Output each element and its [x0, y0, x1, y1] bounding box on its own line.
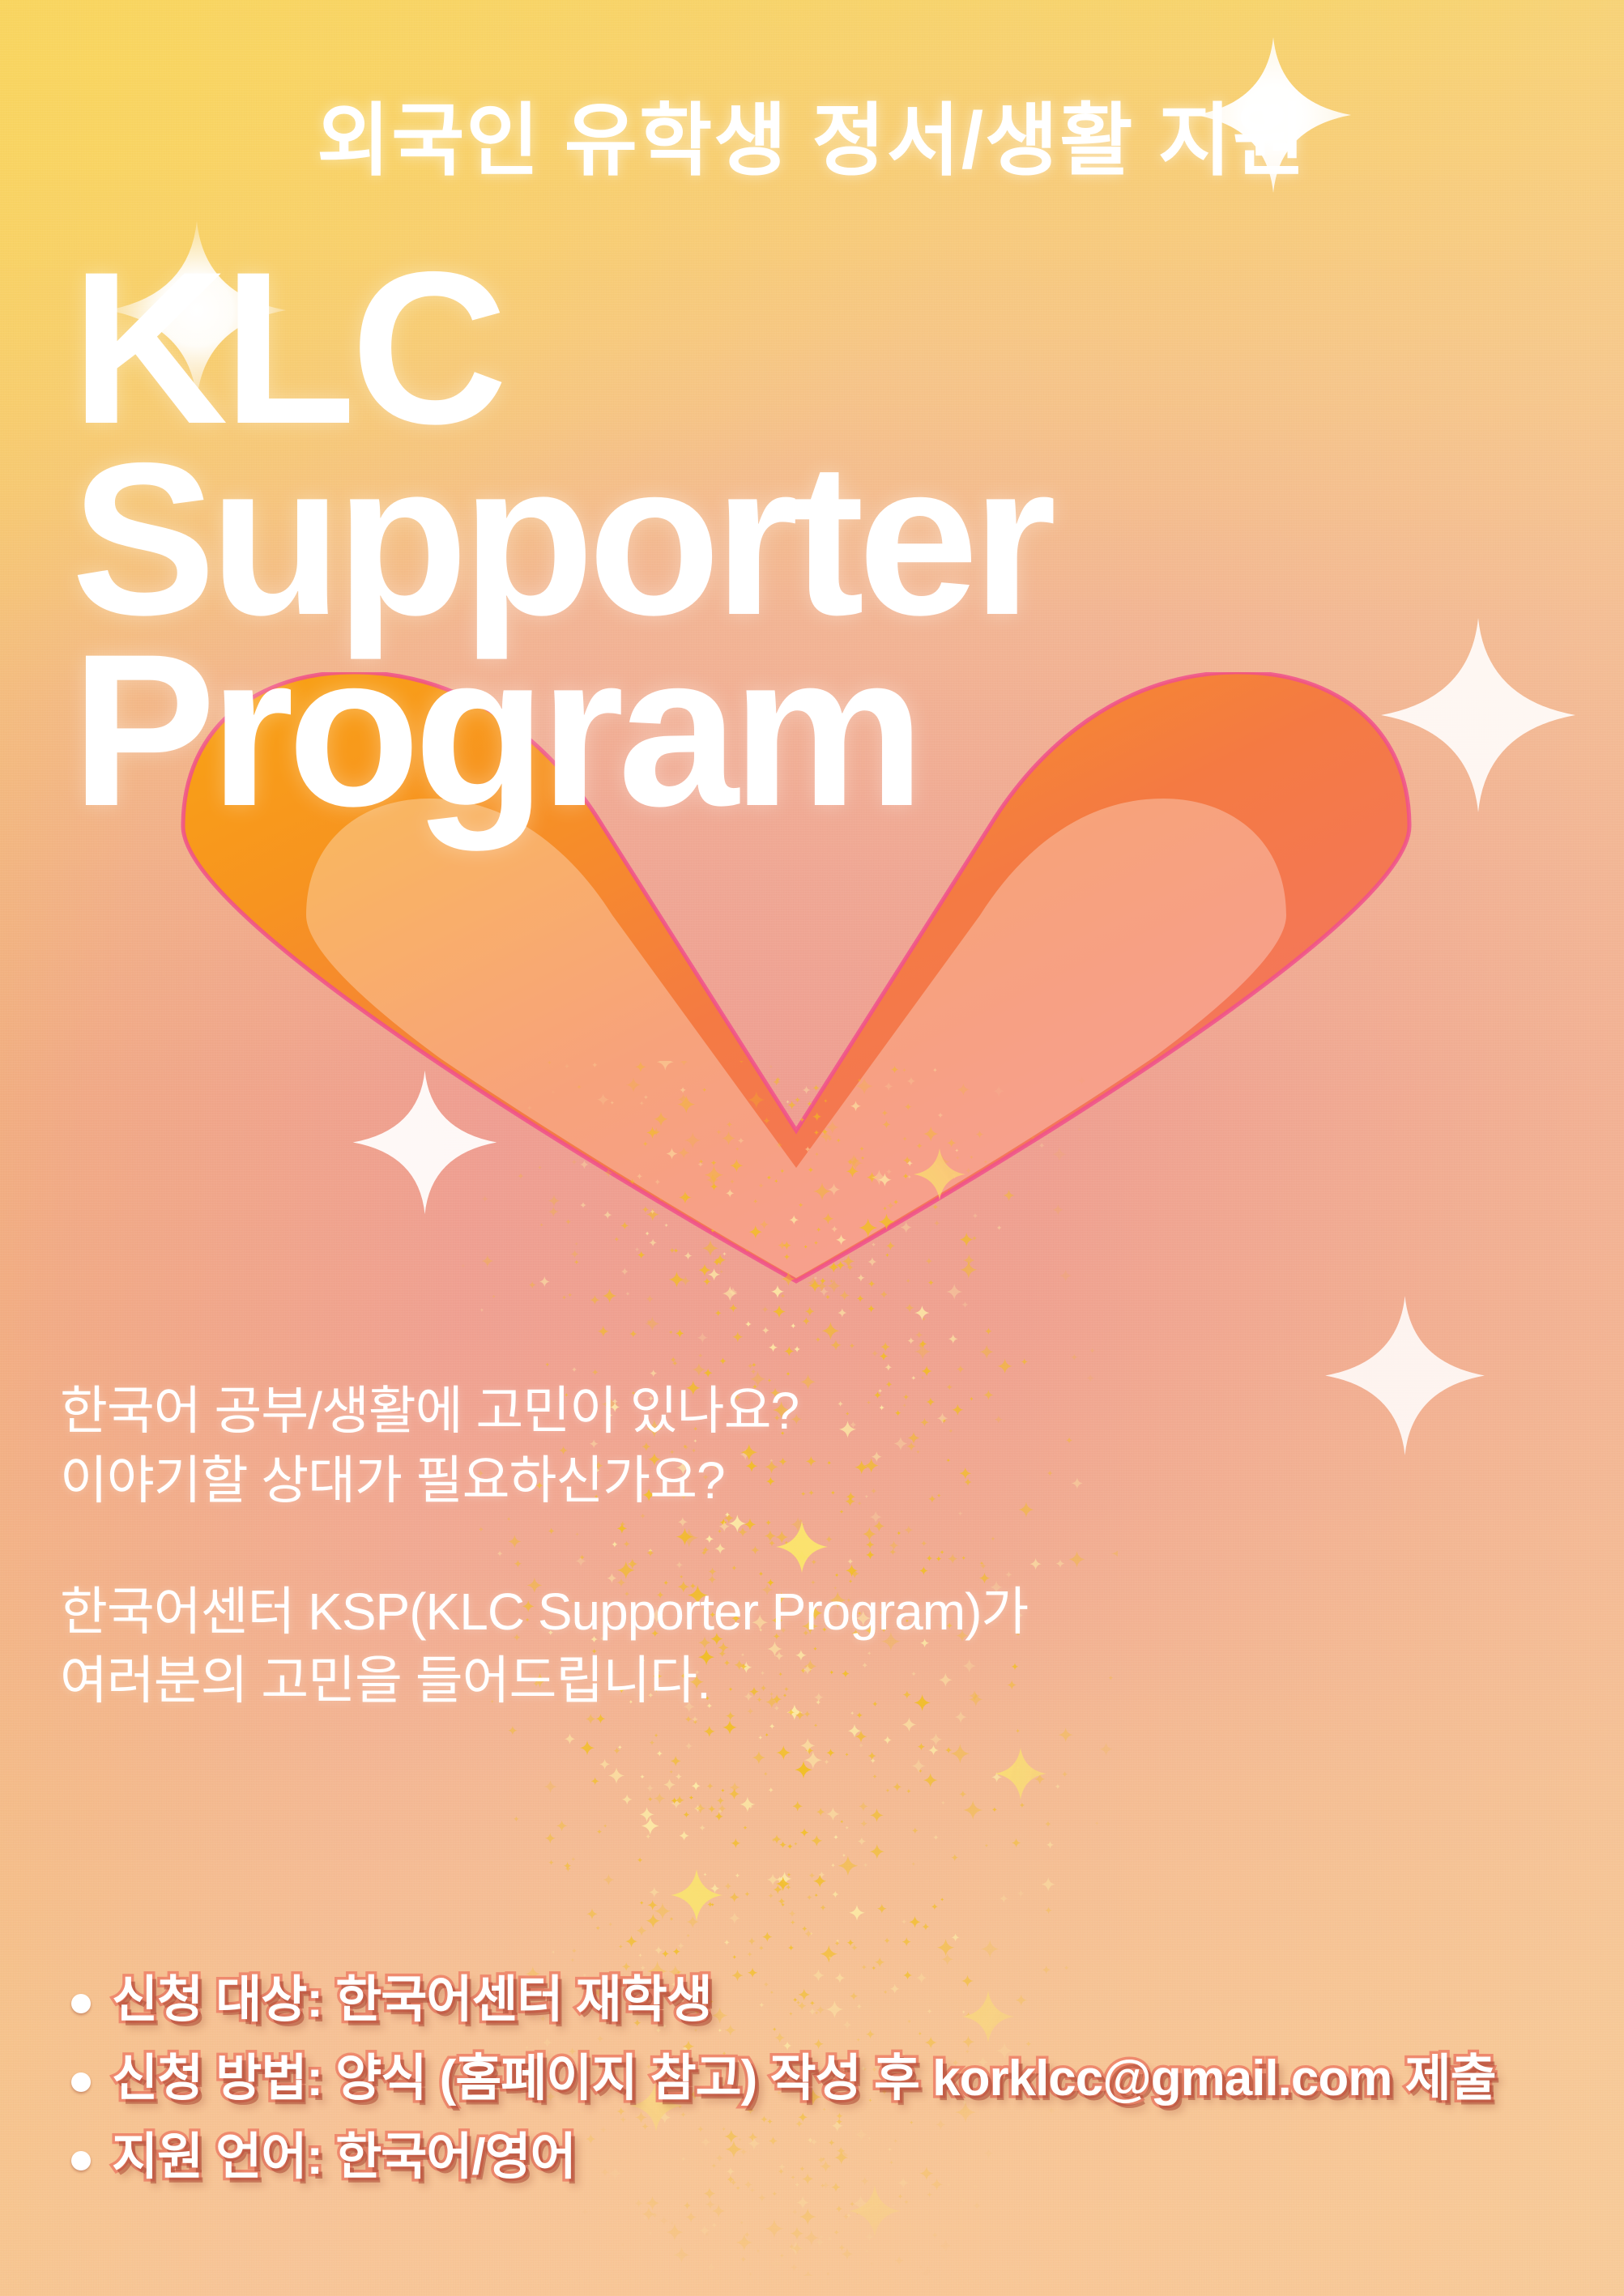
poster-details-list: 신청 대상: 한국어센터 재학생 신청 방법: 양식 (홈페이지 참고) 작성 …: [58, 1970, 1597, 2205]
title-line-supporter: Supporter: [71, 444, 1448, 635]
bullet-dot-icon: [71, 1994, 91, 2013]
bullet-dot-icon: [71, 2151, 91, 2170]
title-line-program: Program: [71, 635, 1448, 826]
list-item: 신청 대상: 한국어센터 재학생: [58, 1970, 1597, 2032]
detail-how-to-apply: 신청 방법: 양식 (홈페이지 참고) 작성 후 korklcc@gmail.c…: [112, 2048, 1496, 2111]
detail-eligibility: 신청 대상: 한국어센터 재학생: [112, 1970, 712, 2032]
heart-inner-overlay: [306, 799, 1286, 1281]
title-line-klc: KLC: [71, 253, 1448, 444]
body-question-2: 이야기할 상대가 필요하신가요?: [60, 1446, 1518, 1516]
poster-main-title: KLC Supporter Program: [71, 253, 1448, 825]
poster-header-text: 외국인 유학생 정서/생활 지원: [0, 76, 1624, 191]
sparkle-star-icon: [350, 1067, 500, 1217]
body-statement-1: 한국어센터 KSP(KLC Supporter Program)가: [60, 1578, 1518, 1647]
body-statement-2: 여러분의 고민을 들어드립니다.: [60, 1646, 1518, 1716]
poster-canvas: 외국인 유학생 정서/생활 지원 KLC Supporter Program 한…: [0, 0, 1624, 2296]
detail-languages: 지원 언어: 한국어/영어: [112, 2127, 576, 2189]
poster-body-text: 한국어 공부/생활에 고민이 있나요? 이야기할 상대가 필요하신가요? 한국어…: [60, 1377, 1518, 1716]
body-spacer: [60, 1516, 1518, 1578]
list-item: 지원 언어: 한국어/영어: [58, 2127, 1597, 2189]
bullet-dot-icon: [71, 2072, 91, 2092]
list-item: 신청 방법: 양식 (홈페이지 참고) 작성 후 korklcc@gmail.c…: [58, 2048, 1597, 2111]
body-question-1: 한국어 공부/생활에 고민이 있나요?: [60, 1377, 1518, 1446]
